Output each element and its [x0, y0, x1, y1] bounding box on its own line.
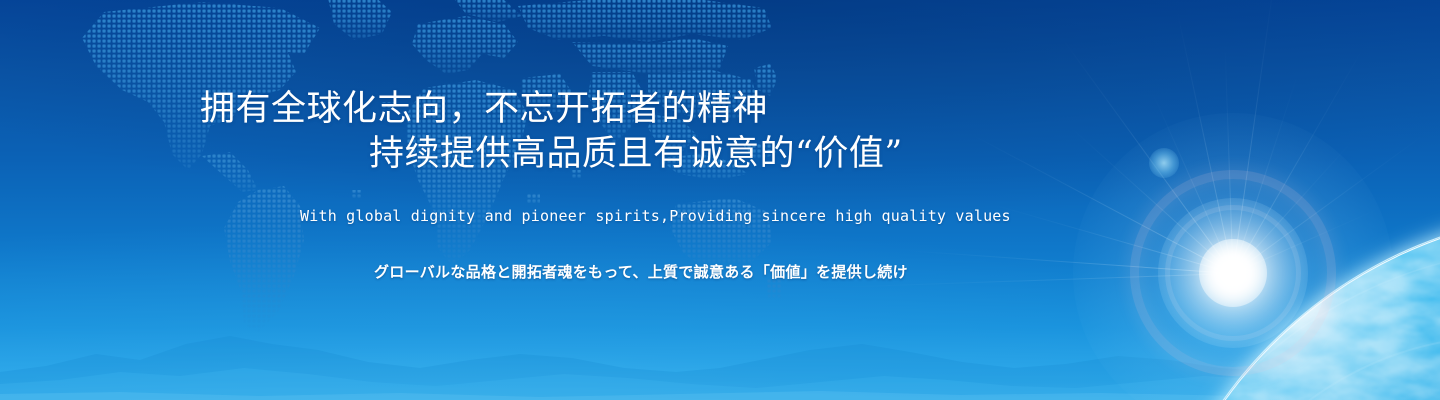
headline-line-2: 持续提供高品质且有诚意的“价值”	[369, 137, 903, 172]
subtitle-japanese: グローバルな品格と開拓者魂をもって、上質で誠意ある「価値」を提供し続け	[374, 261, 908, 282]
subtitle-english: With global dignity and pioneer spirits,…	[300, 207, 1011, 225]
hero-banner: 拥有全球化志向，不忘开拓者的精神 持续提供高品质且有诚意的“价值” With g…	[0, 0, 1440, 400]
headline-line-1: 拥有全球化志向，不忘开拓者的精神	[200, 92, 768, 127]
banner-copy: 拥有全球化志向，不忘开拓者的精神 持续提供高品质且有诚意的“价值” With g…	[0, 0, 1440, 400]
